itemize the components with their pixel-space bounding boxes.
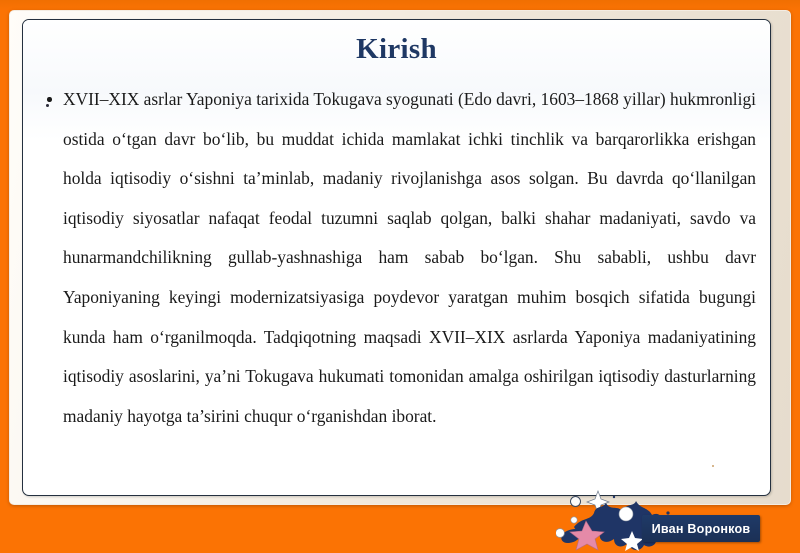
author-name-label: Иван Воронков — [652, 522, 751, 536]
body-text-area: XVII–XIX asrlar Yaponiya tarixida Tokuga… — [23, 80, 770, 436]
author-name-badge: Иван Воронков — [642, 515, 760, 542]
bullet-list: XVII–XIX asrlar Yaponiya tarixida Tokuga… — [41, 80, 756, 436]
ring-decoration — [570, 496, 581, 507]
page-title: Kirish — [23, 20, 770, 66]
scan-speck — [46, 104, 49, 107]
scan-speck — [712, 465, 714, 467]
content-card: Kirish XVII–XIX asrlar Yaponiya tarixida… — [22, 19, 771, 496]
slide-root: Kirish XVII–XIX asrlar Yaponiya tarixida… — [0, 0, 800, 553]
list-item: XVII–XIX asrlar Yaponiya tarixida Tokuga… — [41, 80, 756, 436]
